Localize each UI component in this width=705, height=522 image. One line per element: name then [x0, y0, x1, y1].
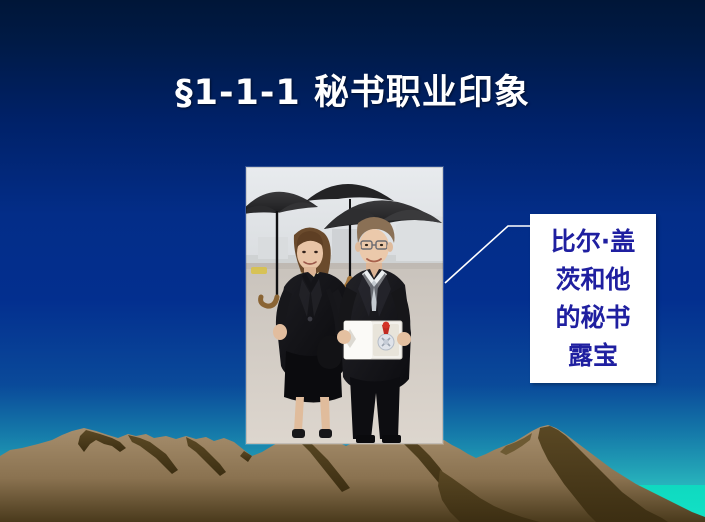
callout-caption-box: 比尔·盖 茨和他 的秘书 露宝 [530, 214, 656, 383]
presentation-slide: §1-1-1 秘书职业印象 [0, 0, 705, 522]
callout-caption-text: 比尔·盖 茨和他 的秘书 露宝 [551, 223, 636, 375]
bill-gates-and-secretary-photo [246, 167, 443, 444]
page-title: §1-1-1 秘书职业印象 [0, 70, 705, 116]
photo-illustration [246, 167, 443, 444]
